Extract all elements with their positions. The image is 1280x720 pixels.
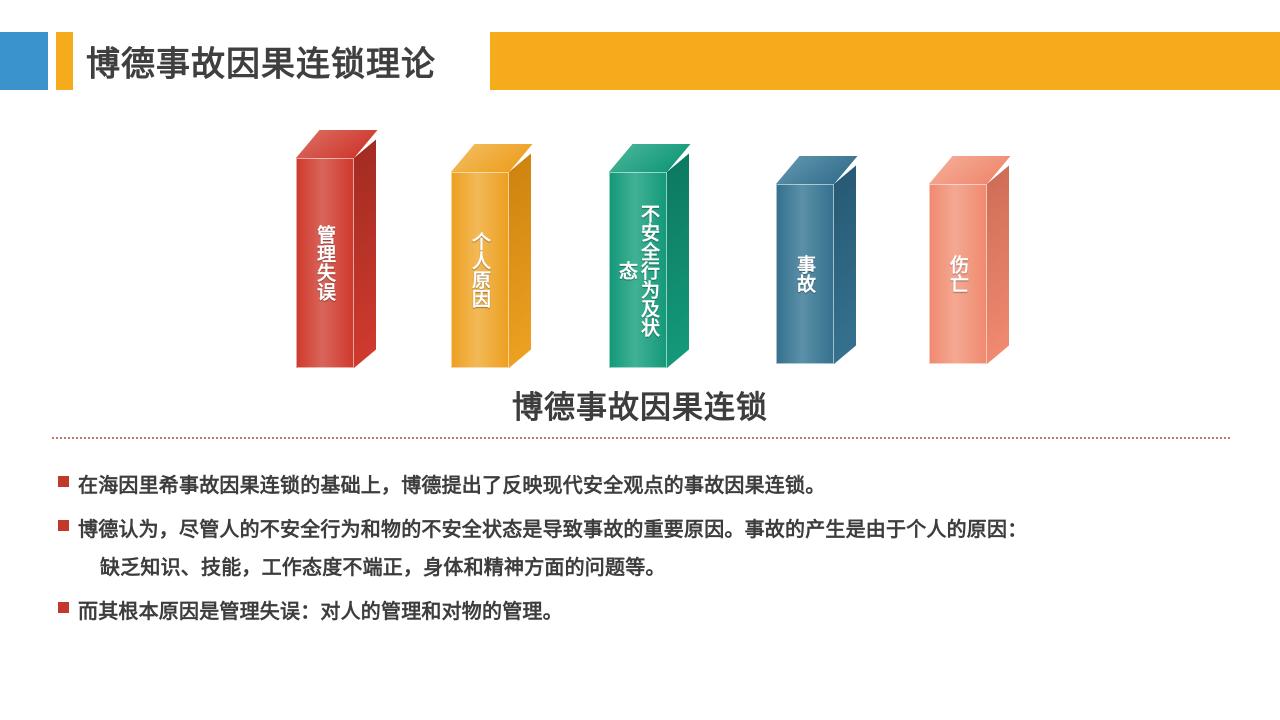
slide-header: 博德事故因果连锁理论 (0, 32, 1280, 90)
bullet-square-icon (58, 520, 69, 531)
chain-block-3-front-face (609, 172, 667, 368)
bullet-item: 而其根本原因是管理失误：对人的管理和对物的管理。 (58, 592, 1238, 630)
bullet-item: 博德认为，尽管人的不安全行为和物的不安全状态是导致事故的重要原因。事故的产生是由… (58, 510, 1238, 586)
bullet-item: 在海因里希事故因果连锁的基础上，博德提出了反映现代安全观点的事故因果连锁。 (58, 466, 1238, 504)
header-blue-block (0, 32, 48, 90)
bullet-text: 在海因里希事故因果连锁的基础上，博德提出了反映现代安全观点的事故因果连锁。 (78, 466, 1238, 504)
chain-block-3-side-face (667, 154, 689, 368)
header-orange-tick (56, 32, 73, 90)
body-content: 在海因里希事故因果连锁的基础上，博德提出了反映现代安全观点的事故因果连锁。 博德… (58, 466, 1238, 636)
chain-block-1-side-face (354, 140, 376, 368)
bullet-square-icon (58, 602, 69, 613)
bullet-text-main: 而其根本原因是管理失误：对人的管理和对物的管理。 (78, 599, 563, 623)
chain-block-4-side-face (834, 166, 856, 364)
header-orange-banner (490, 32, 1280, 90)
bullet-text-main: 在海因里希事故因果连锁的基础上，博德提出了反映现代安全观点的事故因果连锁。 (78, 473, 825, 497)
chain-block-2-side-face (509, 154, 531, 368)
chain-block-2-front-face (451, 172, 509, 368)
chain-block-4-front-face (776, 184, 834, 364)
chain-block-1-front-face (296, 158, 354, 368)
bullet-text: 博德认为，尽管人的不安全行为和物的不安全状态是导致事故的重要原因。事故的产生是由… (78, 510, 1238, 586)
bullet-text: 而其根本原因是管理失误：对人的管理和对物的管理。 (78, 592, 1238, 630)
bullet-text-continuation: 缺乏知识、技能，工作态度不端正，身体和精神方面的问题等。 (78, 548, 1238, 586)
section-heading: 博德事故因果连锁 (0, 382, 1280, 427)
chain-block-5-side-face (987, 166, 1009, 364)
page-title: 博德事故因果连锁理论 (86, 37, 436, 86)
dotted-divider (52, 437, 1230, 439)
bullet-square-icon (58, 476, 69, 487)
chain-diagram: 管理失误 个人原因 不安全行为及状态 事故 (0, 130, 1280, 370)
chain-block-5-front-face (929, 184, 987, 364)
slide-canvas: 博德事故因果连锁理论 管理失误 个人原因 不安全行为及状态 (0, 0, 1280, 720)
bullet-text-main: 博德认为，尽管人的不安全行为和物的不安全状态是导致事故的重要原因。事故的产生是由… (78, 517, 1027, 541)
